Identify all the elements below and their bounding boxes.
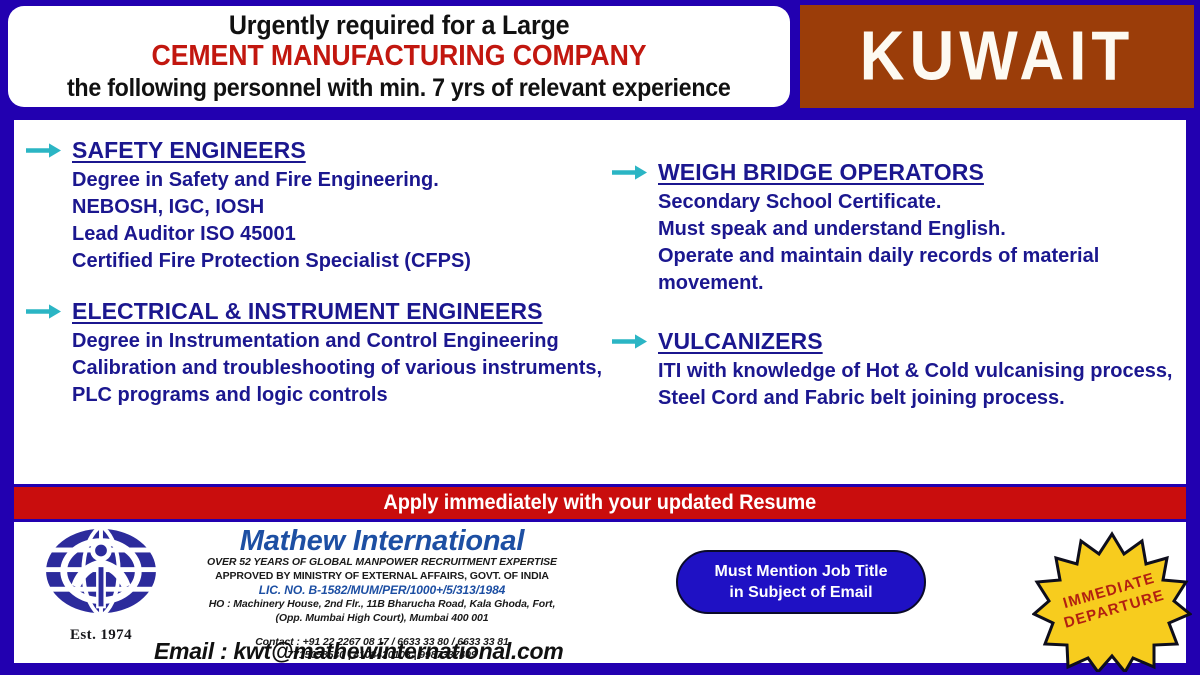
job-requirement-line: Secondary School Certificate. — [658, 189, 1186, 216]
job-entry-vulcanizers: VULCANIZERS ITI with knowledge of Hot & … — [612, 327, 1186, 412]
job-requirement-line: Degree in Safety and Fire Engineering. — [72, 167, 604, 194]
job-title: VULCANIZERS — [658, 327, 1186, 356]
poster-header: Urgently required for a Large CEMENT MAN… — [0, 0, 1200, 113]
apply-banner-text: Apply immediately with your updated Resu… — [384, 491, 817, 515]
agency-approval: APPROVED BY MINISTRY OF EXTERNAL AFFAIRS… — [192, 570, 572, 583]
contact-email[interactable]: Email : kwt@mathewinternational.com — [154, 638, 563, 665]
agency-license-number: LIC. NO. B-1582/MUM/PER/1000+/5/313/1984 — [192, 583, 572, 599]
job-body: VULCANIZERS ITI with knowledge of Hot & … — [658, 327, 1186, 412]
job-requirement-line: Calibration and troubleshooting of vario… — [72, 355, 604, 409]
job-body: SAFETY ENGINEERS Degree in Safety and Fi… — [72, 136, 604, 275]
headline-line-1: Urgently required for a Large — [229, 11, 570, 40]
subject-instruction-line-1: Must Mention Job Title — [714, 561, 887, 582]
job-requirement-line: Lead Auditor ISO 45001 — [72, 221, 604, 248]
immediate-departure-badge: IMMEDIATE DEPARTURE — [1032, 530, 1192, 672]
job-requirement-line: NEBOSH, IGC, IOSH — [72, 194, 604, 221]
header-headline-banner: Urgently required for a Large CEMENT MAN… — [8, 6, 790, 107]
poster-footer: Est. 1974 Mathew International OVER 52 Y… — [14, 522, 1186, 663]
job-column-right: WEIGH BRIDGE OPERATORS Secondary School … — [604, 120, 1186, 484]
job-title: WEIGH BRIDGE OPERATORS — [658, 158, 1186, 187]
job-advertisement-poster: Urgently required for a Large CEMENT MAN… — [0, 0, 1200, 675]
arrow-right-icon — [612, 158, 658, 297]
job-body: WEIGH BRIDGE OPERATORS Secondary School … — [658, 158, 1186, 297]
job-listings-panel: SAFETY ENGINEERS Degree in Safety and Fi… — [14, 120, 1186, 484]
company-logo-block: Est. 1974 — [26, 524, 176, 644]
job-requirement-line: ITI with knowledge of Hot & Cold vulcani… — [658, 358, 1186, 412]
agency-address-line-2: (Opp. Mumbai High Court), Mumbai 400 001 — [192, 612, 572, 626]
subject-instruction-line-2: in Subject of Email — [729, 582, 872, 603]
job-requirement-line: Must speak and understand English. — [658, 216, 1186, 243]
arrow-right-icon — [26, 136, 72, 275]
job-title: ELECTRICAL & INSTRUMENT ENGINEERS — [72, 297, 604, 326]
globe-logo-icon — [42, 524, 160, 626]
apply-now-banner: Apply immediately with your updated Resu… — [14, 487, 1186, 519]
arrow-right-icon — [26, 297, 72, 409]
starburst-badge-icon — [1032, 530, 1192, 672]
country-label: KUWAIT — [860, 17, 1135, 97]
job-entry-weigh-bridge-operators: WEIGH BRIDGE OPERATORS Secondary School … — [612, 158, 1186, 297]
arrow-right-icon — [612, 327, 658, 412]
agency-name: Mathew International — [192, 526, 572, 556]
job-requirement-line: Degree in Instrumentation and Control En… — [72, 328, 604, 355]
job-requirement-line: Operate and maintain daily records of ma… — [658, 243, 1186, 297]
job-body: ELECTRICAL & INSTRUMENT ENGINEERS Degree… — [72, 297, 604, 409]
headline-company-type: CEMENT MANUFACTURING COMPANY — [152, 41, 647, 73]
job-title: SAFETY ENGINEERS — [72, 136, 604, 165]
subject-instruction-badge: Must Mention Job Title in Subject of Ema… — [676, 550, 926, 614]
job-requirement-line: Certified Fire Protection Specialist (CF… — [72, 248, 604, 275]
job-entry-electrical-instrument-engineers: ELECTRICAL & INSTRUMENT ENGINEERS Degree… — [26, 297, 604, 409]
agency-address-line-1: HO : Machinery House, 2nd Flr., 11B Bhar… — [192, 598, 572, 612]
country-badge: KUWAIT — [800, 5, 1194, 108]
job-entry-safety-engineers: SAFETY ENGINEERS Degree in Safety and Fi… — [26, 136, 604, 275]
headline-experience-note: the following personnel with min. 7 yrs … — [67, 75, 731, 103]
job-column-left: SAFETY ENGINEERS Degree in Safety and Fi… — [14, 120, 604, 484]
agency-tagline: OVER 52 YEARS OF GLOBAL MANPOWER RECRUIT… — [192, 556, 572, 569]
